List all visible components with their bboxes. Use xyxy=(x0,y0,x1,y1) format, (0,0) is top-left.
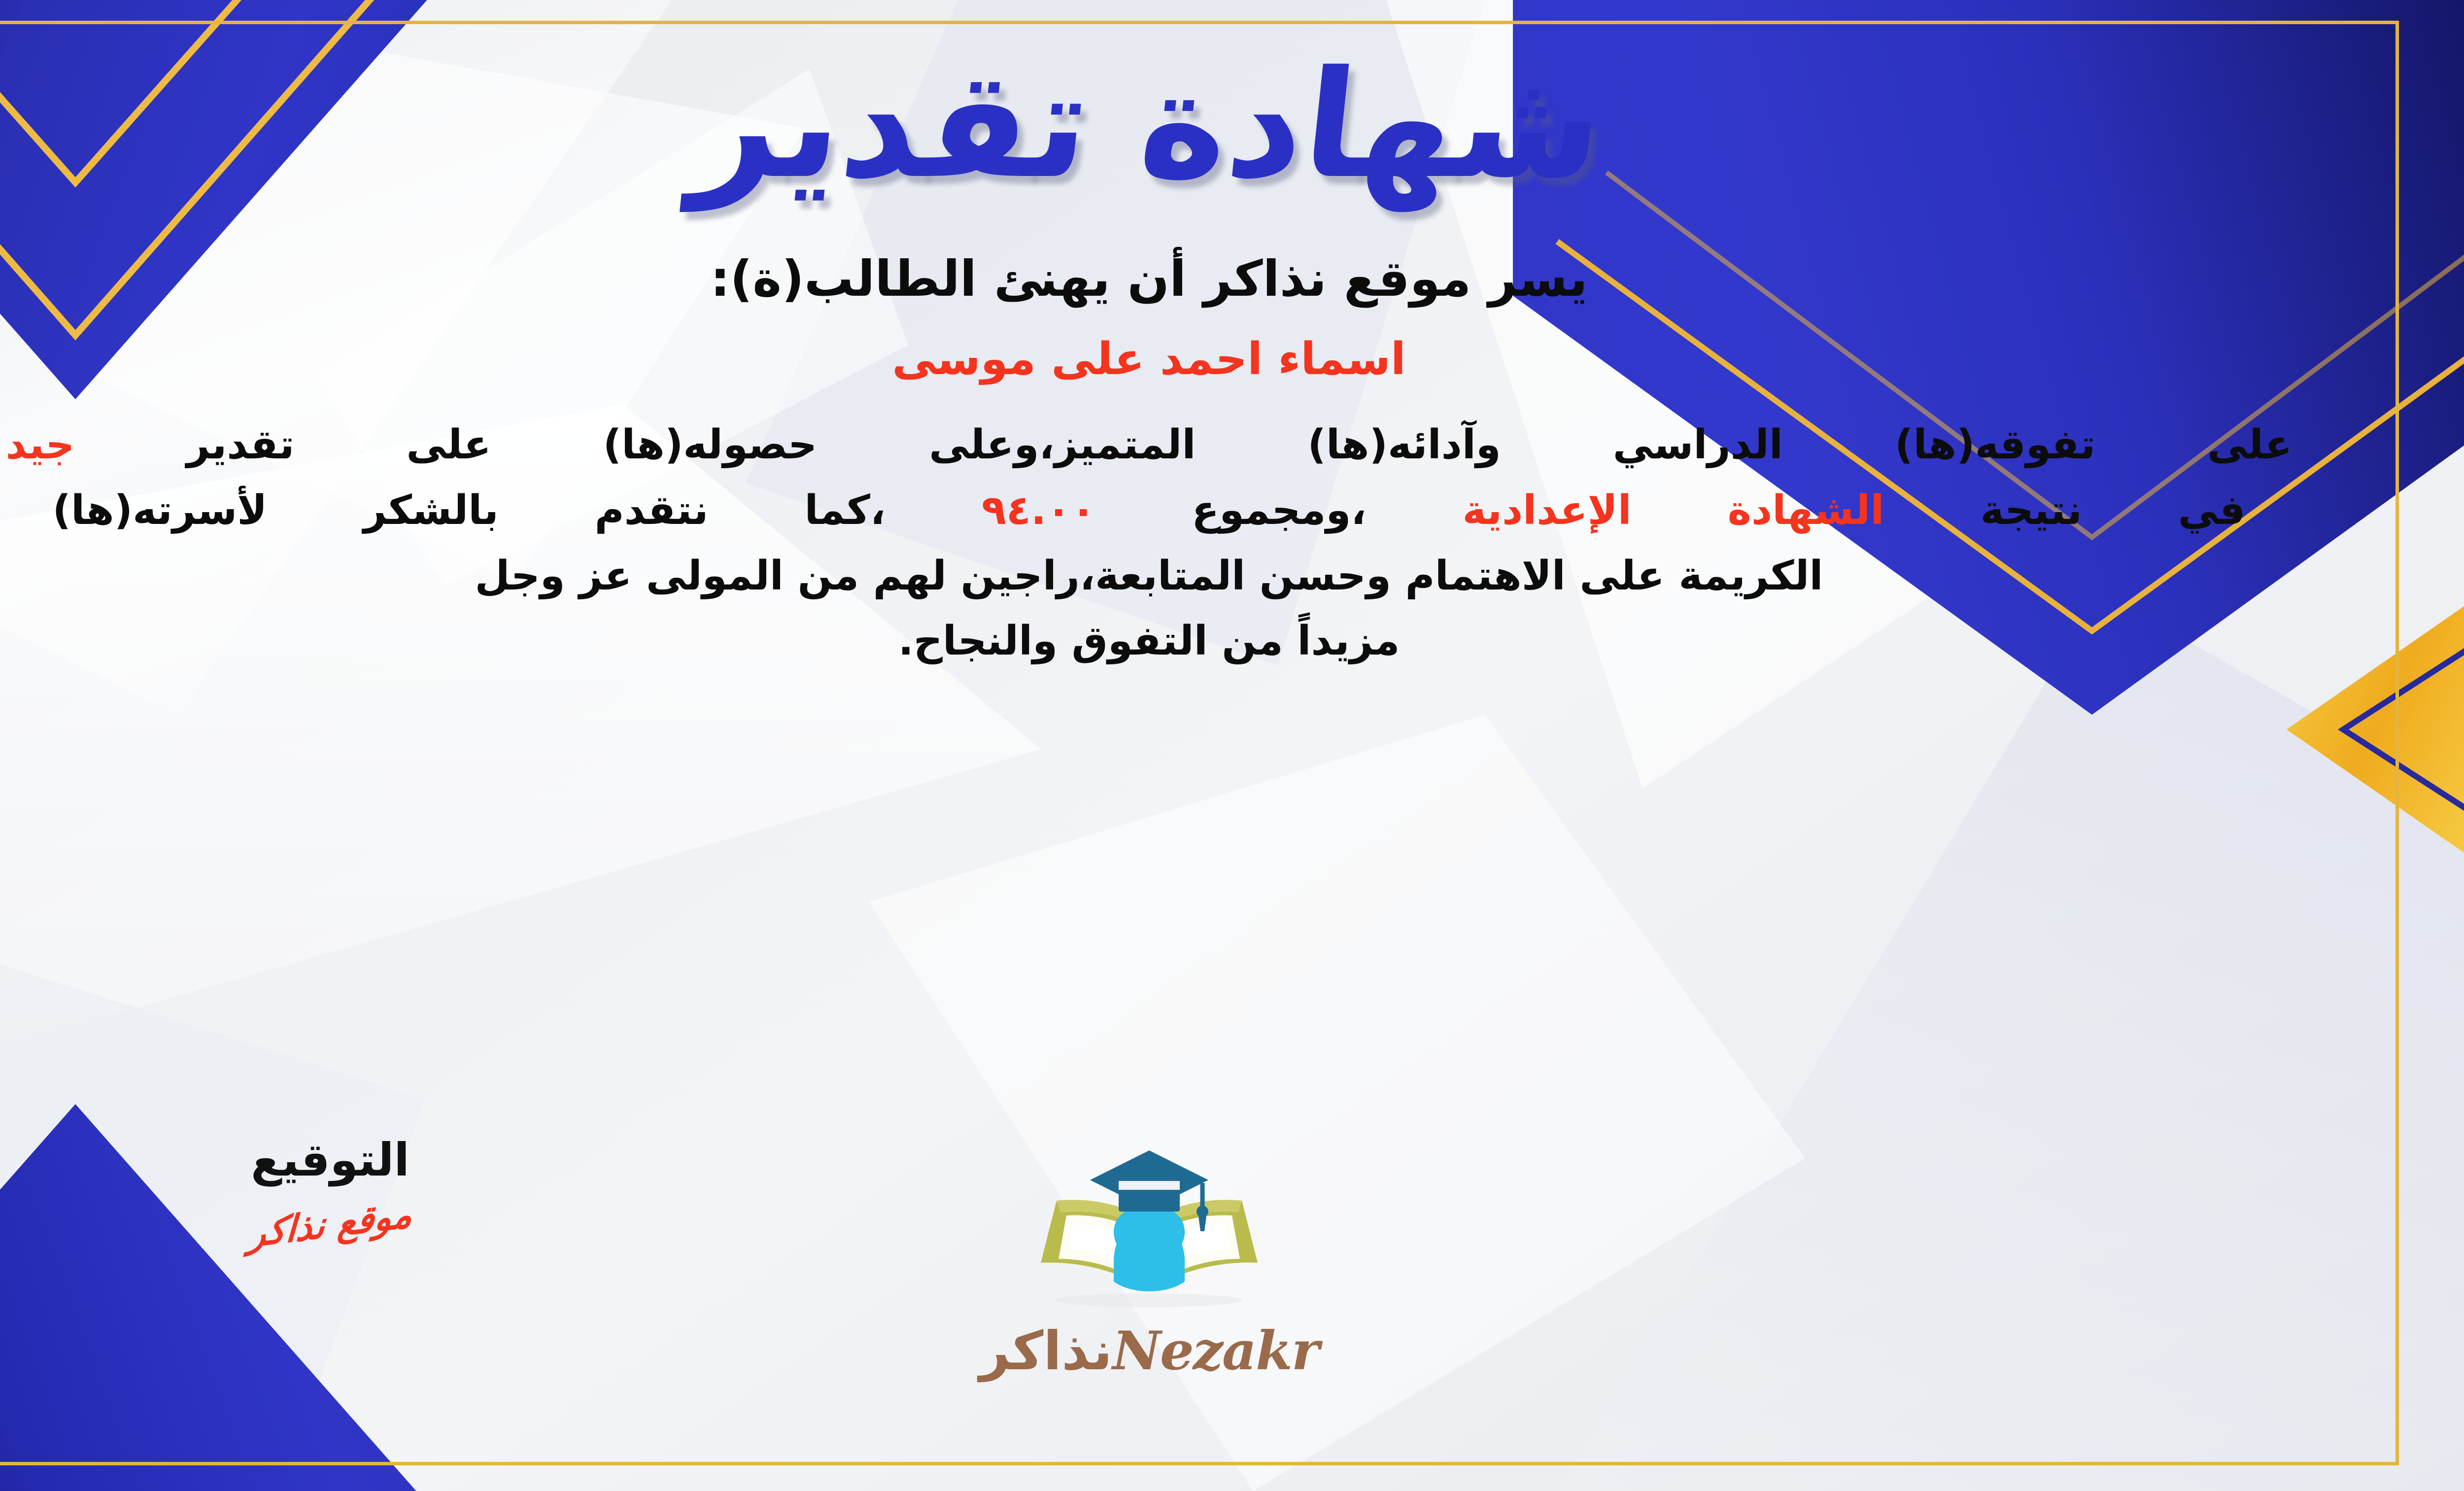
signature-label: التوقيع xyxy=(158,1134,503,1186)
certificate-name: الشهادة الإعدادية xyxy=(1462,487,1884,534)
body-line-wishes: مزيداً من التفوق والنجاح. xyxy=(6,609,2293,674)
page-title: شهادة تقدير xyxy=(687,47,1611,203)
signature-mark: موقع نذاكر xyxy=(247,1193,413,1256)
intro-line: يسر موقع نذاكر أن يهنئ الطالب(ة): xyxy=(710,250,1587,308)
certificate-body: على تفوقه(ها) الدراسي وآدائه(ها) المتميز… xyxy=(6,413,2293,674)
score-value: ٩٤.٠٠ xyxy=(982,487,1095,534)
result-prefix: في نتيجة xyxy=(1980,487,2245,534)
thanks-prefix: ،كما نتقدم بالشكر لأسرته(ها) xyxy=(53,487,886,534)
body-line-result: في نتيجة الشهادة الإعدادية ،ومجموع ٩٤.٠٠… xyxy=(53,478,2246,544)
certificate-footer: التوقيع موقع نذاكر xyxy=(0,1134,2464,1410)
achievement-text: على تفوقه(ها) الدراسي وآدائه(ها) المتميز… xyxy=(186,421,2292,468)
body-line-thanks: الكريمة على الاهتمام وحسن المتابعة،راجين… xyxy=(6,544,2293,609)
logo-arabic-text: نذاكر xyxy=(979,1320,1112,1382)
logo-wordmark: Nezakrنذاكر xyxy=(979,1320,1318,1382)
signature-block: التوقيع موقع نذاكر xyxy=(158,1134,503,1246)
site-logo: Nezakrنذاكر xyxy=(947,1129,1351,1382)
graduation-book-logo-icon xyxy=(1011,1129,1287,1326)
logo-latin-text: Nezakr xyxy=(1112,1320,1318,1382)
body-line-achievement: على تفوقه(ها) الدراسي وآدائه(ها) المتميز… xyxy=(6,413,2293,478)
total-label: ،ومجموع xyxy=(1192,487,1366,534)
grade-value: جيد xyxy=(6,421,75,468)
certificate-page: شهادة تقدير يسر موقع نذاكر أن يهنئ الطال… xyxy=(0,0,2464,1491)
student-name: اسماء احمد على موسى xyxy=(892,333,1406,385)
